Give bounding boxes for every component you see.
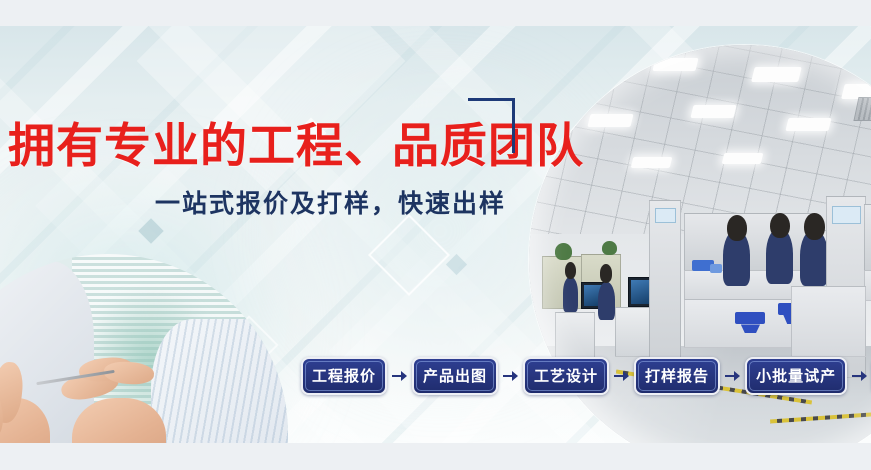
- flow-step-2[interactable]: 产品出图: [412, 357, 498, 395]
- promo-banner: 拥有专业的工程、品质团队 一站式报价及打样，快速出样 工程报价 产品出图 工艺设…: [0, 0, 871, 470]
- flow-step-5[interactable]: 小批量试产: [745, 357, 847, 395]
- headline-block: 拥有专业的工程、品质团队 一站式报价及打样，快速出样: [8, 121, 528, 220]
- top-band: [0, 0, 871, 26]
- page-title: 拥有专业的工程、品质团队: [8, 121, 528, 171]
- flow-step-1[interactable]: 工程报价: [301, 357, 387, 395]
- arrow-right-icon: [852, 371, 867, 381]
- corner-bracket-icon: [468, 98, 515, 153]
- arrow-right-icon: [503, 371, 518, 381]
- business-meeting-photo: [0, 254, 288, 443]
- page-subtitle: 一站式报价及打样，快速出样: [8, 184, 528, 220]
- flow-step-4[interactable]: 打样报告: [634, 357, 720, 395]
- process-flow: 工程报价 产品出图 工艺设计 打样报告 小批量试产 批量量产: [301, 357, 871, 395]
- banner-stage: 拥有专业的工程、品质团队 一站式报价及打样，快速出样 工程报价 产品出图 工艺设…: [0, 26, 871, 443]
- flow-step-3[interactable]: 工艺设计: [523, 357, 609, 395]
- arrow-right-icon: [392, 371, 407, 381]
- arrow-right-icon: [725, 371, 740, 381]
- bottom-band: [0, 443, 871, 470]
- arrow-right-icon: [614, 371, 629, 381]
